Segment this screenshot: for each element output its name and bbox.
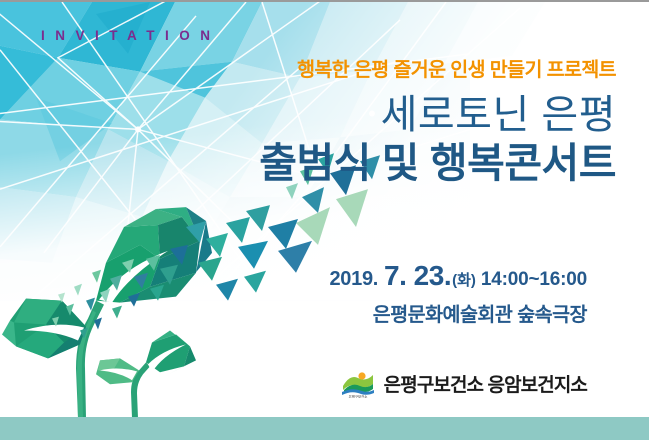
event-year: 2019. [329,268,378,291]
event-date-line: 2019. 7. 23. (화) 14:00~16:00 [329,260,587,292]
ground-band [0,417,649,440]
svg-text:은평구보건소: 은평구보건소 [348,394,367,398]
sprout-small [96,331,196,419]
headline-block: 행복한 은평 즐거운 인생 만들기 프로젝트 세로토닌 은평 출범식 및 행복콘… [259,60,616,188]
poster-title-line2: 출범식 및 행복콘서트 [259,140,616,187]
leaf-large-right [96,207,212,303]
eunpyeong-gu-emblem-icon: 은평구보건소 [340,368,376,398]
leaf-left [2,299,86,359]
poster-title-line1: 세로토닌 은평 [259,92,616,138]
event-weekday: (화) [452,269,476,290]
event-info-block: 2019. 7. 23. (화) 14:00~16:00 은평문화예술회관 숲속… [329,260,587,327]
event-time: 14:00~16:00 [481,269,587,291]
invitation-kicker: INVITATION [41,28,221,43]
organiser-block: 은평구보건소 은평구보건소 응암보건지소 [340,368,587,398]
invitation-poster: INVITATION 행복한 은평 즐거운 인생 만들기 프로젝트 세로토닌 은… [0,0,649,440]
event-venue: 은평문화예술회관 숲속극장 [329,298,587,327]
plant-illustration [2,207,212,418]
organiser-name: 은평구보건소 응암보건지소 [384,370,587,397]
poster-subtitle: 행복한 은평 즐거운 인생 만들기 프로젝트 [259,60,616,81]
event-day: 7. 23. [384,260,451,292]
